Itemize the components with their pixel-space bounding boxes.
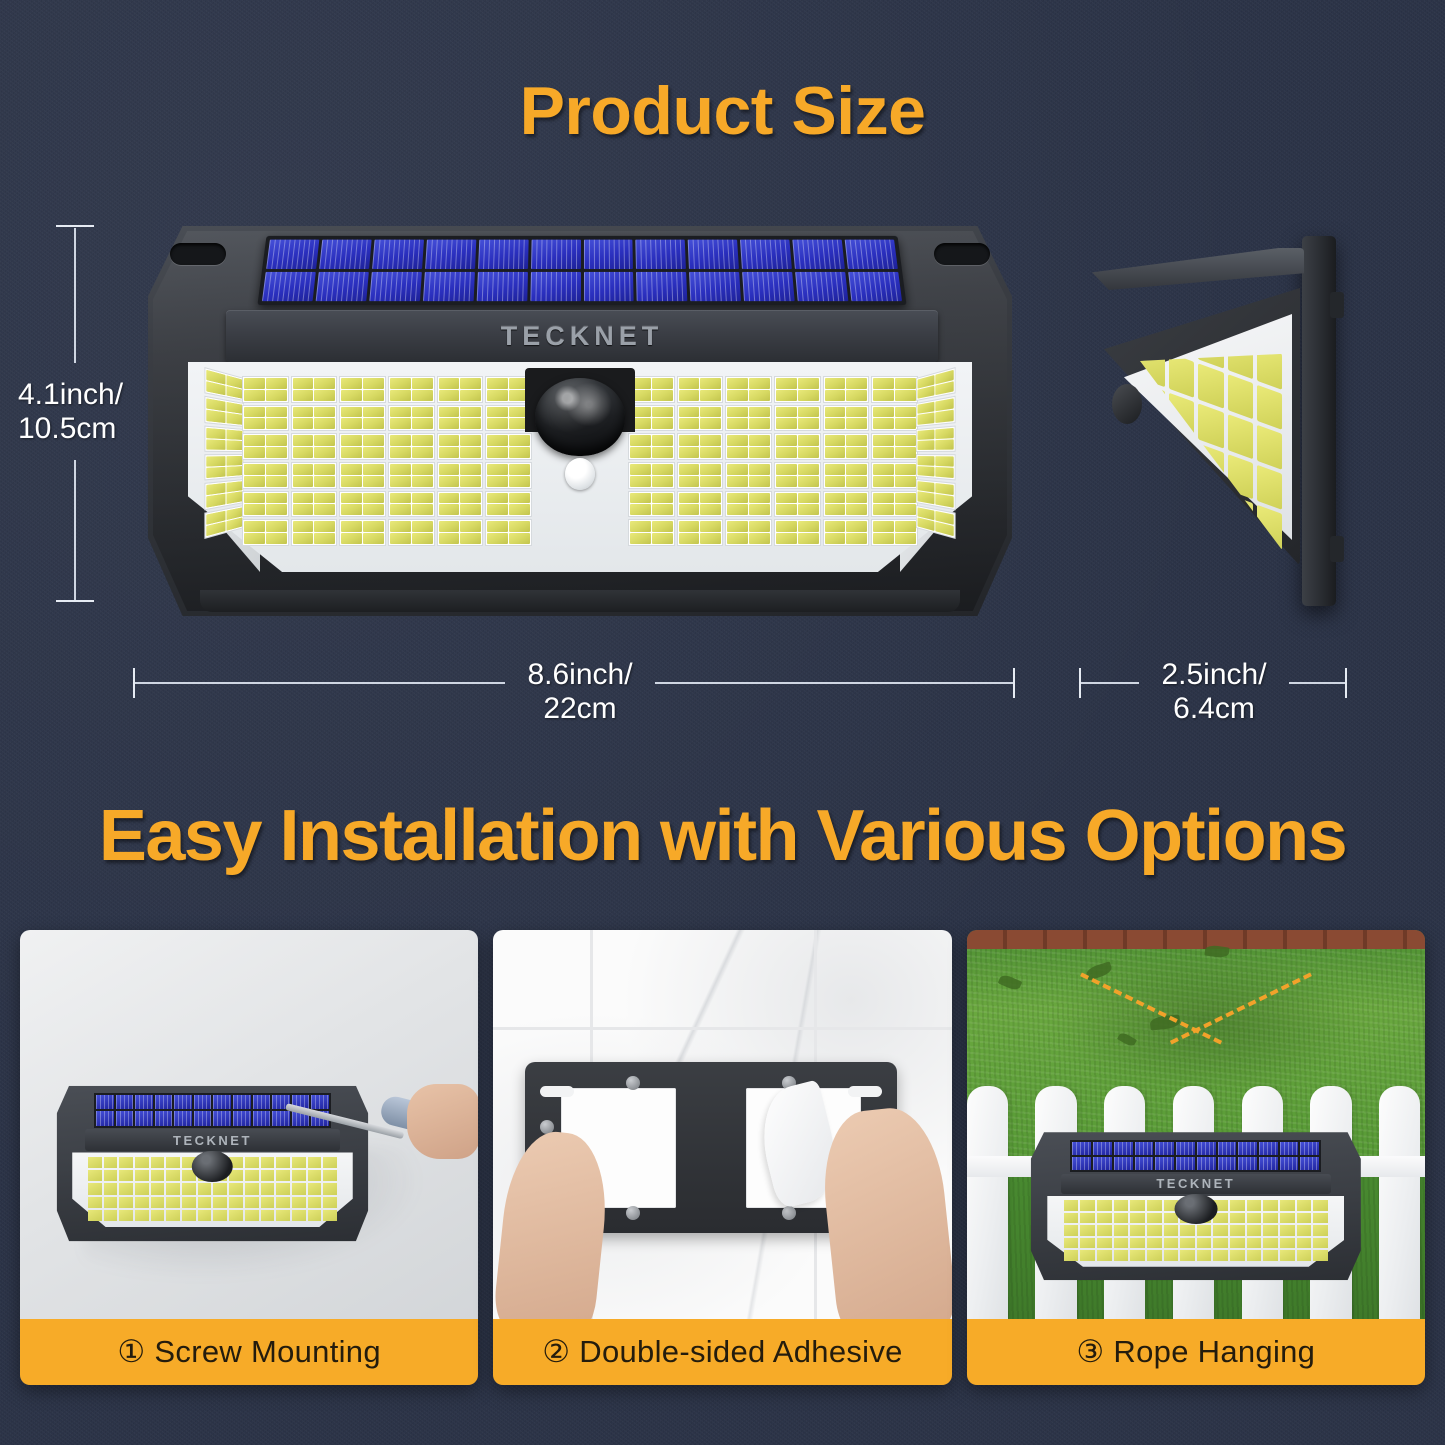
- mini-led-chip: [308, 1170, 322, 1181]
- led-chip: [439, 504, 460, 515]
- led-chip: [652, 435, 673, 446]
- led-chip: [439, 435, 460, 446]
- led-chip: [439, 447, 460, 458]
- mini-solar-cell: [1259, 1142, 1278, 1155]
- led-cluster: [339, 405, 386, 432]
- led-chip: [293, 378, 314, 389]
- led-chip: [679, 464, 700, 475]
- mini-led-chip: [1280, 1250, 1295, 1261]
- mini-led-chip: [151, 1210, 165, 1221]
- led-chip: [460, 533, 481, 544]
- mini-led-chip: [1213, 1225, 1228, 1236]
- mini-led-chip: [229, 1197, 243, 1208]
- solar-cell: [689, 271, 741, 301]
- mini-led-chip: [1147, 1213, 1162, 1224]
- led-cluster: [725, 519, 772, 546]
- led-chip: [341, 533, 362, 544]
- led-chip: [460, 378, 481, 389]
- led-chip: [776, 464, 797, 475]
- led-cluster: [339, 519, 386, 546]
- led-chip: [266, 447, 287, 458]
- led-chip: [935, 467, 954, 478]
- led-cluster: [774, 519, 821, 546]
- led-cluster: [339, 462, 386, 489]
- led-chip: [873, 435, 894, 446]
- led-chip: [390, 418, 411, 429]
- mini-solar-cell: [96, 1111, 114, 1125]
- led-chip: [700, 521, 721, 532]
- led-chip: [727, 407, 748, 418]
- led-chip: [412, 521, 433, 532]
- led-chip: [487, 418, 508, 429]
- led-chip: [341, 476, 362, 487]
- led-chip: [749, 504, 770, 515]
- mini-led-chip: [229, 1210, 243, 1221]
- mini-led-chip: [1247, 1200, 1262, 1211]
- led-chip: [776, 447, 797, 458]
- led-chip: [412, 378, 433, 389]
- led-cluster: [823, 376, 870, 403]
- install-caption-2: ② Double-sided Adhesive: [493, 1319, 951, 1385]
- led-cluster: [725, 491, 772, 518]
- hand-holding-screwdriver: [407, 1084, 479, 1159]
- led-cluster: [871, 519, 918, 546]
- led-cluster: [823, 519, 870, 546]
- mini-led-chip: [1230, 1238, 1245, 1249]
- mini-solar-cell: [1280, 1142, 1299, 1155]
- mini-led-chip: [198, 1183, 212, 1194]
- led-chip: [679, 533, 700, 544]
- led-chip: [341, 493, 362, 504]
- mini-led-chip: [1064, 1238, 1079, 1249]
- install-photo-screw-mounting: TECKNET: [20, 930, 478, 1319]
- mini-solar-cell: [233, 1095, 251, 1109]
- side-tab-top: [1330, 292, 1344, 318]
- mini-led-chip: [323, 1210, 337, 1221]
- led-chip: [873, 493, 894, 504]
- led-chip: [825, 493, 846, 504]
- mini-led-chip: [1297, 1225, 1312, 1236]
- led-cluster: [388, 462, 435, 489]
- led-chip: [727, 504, 748, 515]
- led-chip: [390, 435, 411, 446]
- side-led-chip: [1198, 483, 1223, 528]
- mini-solar-cell: [174, 1095, 192, 1109]
- led-cluster: [242, 433, 289, 460]
- mini-led-chip: [323, 1183, 337, 1194]
- led-chip: [390, 407, 411, 418]
- led-chip: [341, 435, 362, 446]
- led-chip: [825, 390, 846, 401]
- led-chip: [749, 390, 770, 401]
- led-chip: [293, 493, 314, 504]
- dimension-height-label: 4.1inch/ 10.5cm: [18, 378, 123, 445]
- mini-led-chip: [1230, 1213, 1245, 1224]
- led-chip: [226, 440, 243, 450]
- install-photo-adhesive: [493, 930, 951, 1319]
- mini-led-chip: [1130, 1225, 1145, 1236]
- led-chip: [749, 435, 770, 446]
- led-chip: [390, 493, 411, 504]
- led-chip: [439, 493, 460, 504]
- led-chip: [798, 533, 819, 544]
- led-chip: [895, 493, 916, 504]
- mini-led-chip: [245, 1210, 259, 1221]
- led-chip: [798, 447, 819, 458]
- side-solar-arm: [1092, 248, 1304, 290]
- mini-led-chip: [119, 1170, 133, 1181]
- led-cluster: [204, 396, 244, 427]
- led-chip: [487, 521, 508, 532]
- led-chip: [266, 504, 287, 515]
- mini-led-chip: [292, 1183, 306, 1194]
- led-chip: [935, 456, 954, 467]
- mini-led-chip: [1064, 1213, 1079, 1224]
- led-chip: [873, 418, 894, 429]
- mini-solar-cell: [1114, 1142, 1133, 1155]
- mini-brand-bar: TECKNET: [1061, 1174, 1332, 1195]
- led-cluster: [677, 462, 724, 489]
- led-cluster: [291, 462, 338, 489]
- mini-led-chip: [1230, 1225, 1245, 1236]
- led-chip: [727, 464, 748, 475]
- mini-led-chip: [1097, 1225, 1112, 1236]
- led-chip: [846, 521, 867, 532]
- led-chip: [293, 476, 314, 487]
- mini-led-chip: [213, 1210, 227, 1221]
- mini-led-chip: [1247, 1225, 1262, 1236]
- mounting-hole-right: [934, 243, 990, 265]
- led-cluster: [628, 462, 675, 489]
- dim-line-width-right: [655, 682, 1013, 684]
- solar-cell: [530, 271, 581, 301]
- led-chip: [630, 533, 651, 544]
- mini-solar-cell: [1218, 1142, 1237, 1155]
- mini-led-chip: [135, 1170, 149, 1181]
- mini-led-chip: [1064, 1225, 1079, 1236]
- mini-led-chip: [245, 1197, 259, 1208]
- led-chip: [652, 447, 673, 458]
- product-side-view: [1086, 236, 1336, 606]
- led-chip: [363, 378, 384, 389]
- led-chip: [935, 410, 954, 422]
- led-chip: [895, 390, 916, 401]
- mini-led-chip: [1097, 1238, 1112, 1249]
- led-chip: [293, 447, 314, 458]
- mini-solar-cell: [1238, 1157, 1257, 1170]
- led-chip: [895, 464, 916, 475]
- led-array-left-wing: [204, 367, 244, 539]
- bracket-slot-left: [540, 1086, 574, 1097]
- led-cluster: [823, 491, 870, 518]
- led-cluster: [871, 433, 918, 460]
- led-chip: [776, 521, 797, 532]
- led-chip: [825, 378, 846, 389]
- mini-solar-cell: [1300, 1142, 1319, 1155]
- mini-led-chip: [1080, 1213, 1095, 1224]
- mini-led-chip: [1313, 1238, 1328, 1249]
- led-chip: [630, 464, 651, 475]
- mini-led-chip: [292, 1197, 306, 1208]
- mini-led-chip: [261, 1170, 275, 1181]
- led-chip: [341, 447, 362, 458]
- led-chip: [363, 418, 384, 429]
- side-led-chip: [1140, 462, 1165, 507]
- led-chip: [679, 407, 700, 418]
- led-chip: [487, 504, 508, 515]
- led-chip: [266, 493, 287, 504]
- led-chip: [846, 476, 867, 487]
- mini-led-chip: [1097, 1250, 1112, 1261]
- mini-led-chip: [1280, 1200, 1295, 1211]
- led-chip: [727, 418, 748, 429]
- mini-led-chip: [308, 1197, 322, 1208]
- led-chip: [314, 378, 335, 389]
- led-chip: [700, 418, 721, 429]
- mini-led-chip: [1114, 1225, 1129, 1236]
- led-chip: [798, 418, 819, 429]
- mini-solar-cell: [213, 1111, 231, 1125]
- led-cluster: [823, 405, 870, 432]
- led-chip: [341, 418, 362, 429]
- led-chip: [266, 407, 287, 418]
- mini-led-chip: [245, 1157, 259, 1168]
- mini-led-chip: [151, 1197, 165, 1208]
- led-chip: [390, 476, 411, 487]
- led-chip: [935, 439, 954, 450]
- led-chip: [244, 521, 265, 532]
- led-chip: [652, 407, 673, 418]
- install-option-double-sided-adhesive[interactable]: ② Double-sided Adhesive: [493, 930, 951, 1385]
- sensor-dome: [535, 378, 625, 456]
- led-chip: [266, 521, 287, 532]
- led-chip: [776, 504, 797, 515]
- solar-cell: [848, 271, 902, 301]
- led-chip: [846, 464, 867, 475]
- mini-led-chip: [276, 1183, 290, 1194]
- led-chip: [390, 390, 411, 401]
- led-chip: [314, 476, 335, 487]
- install-caption-1: ① Screw Mounting: [20, 1319, 478, 1385]
- led-cluster: [677, 376, 724, 403]
- led-cluster: [871, 376, 918, 403]
- mini-led-chip: [1080, 1238, 1095, 1249]
- dim-cap-bottom: [56, 600, 94, 602]
- led-chip: [652, 521, 673, 532]
- led-chip: [846, 435, 867, 446]
- led-chip: [935, 428, 954, 439]
- install-option-rope-hanging[interactable]: TECKNET ③ Rope Hanging: [967, 930, 1425, 1385]
- mini-led-chip: [276, 1170, 290, 1181]
- led-chip: [439, 407, 460, 418]
- led-chip: [798, 390, 819, 401]
- mini-led-chip: [1064, 1200, 1079, 1211]
- led-chip: [509, 504, 530, 515]
- side-led-chip: [1228, 494, 1253, 539]
- led-chip: [652, 378, 673, 389]
- mini-solar-cell: [1155, 1142, 1174, 1155]
- mini-led-chip: [151, 1170, 165, 1181]
- led-chip: [700, 476, 721, 487]
- mini-led-chip: [1263, 1200, 1278, 1211]
- mini-solar-cell: [1197, 1157, 1216, 1170]
- led-chip: [363, 521, 384, 532]
- mini-led-chip: [1180, 1225, 1195, 1236]
- led-chip: [873, 390, 894, 401]
- mini-solar-cell: [194, 1111, 212, 1125]
- led-chip: [846, 390, 867, 401]
- led-cluster: [437, 519, 484, 546]
- led-chip: [439, 418, 460, 429]
- led-chip: [390, 464, 411, 475]
- solar-cell: [845, 240, 898, 269]
- mini-led-chip: [261, 1210, 275, 1221]
- led-cluster: [871, 462, 918, 489]
- led-chip: [439, 521, 460, 532]
- led-chip: [206, 428, 225, 439]
- led-chip: [341, 504, 362, 515]
- led-chip: [363, 504, 384, 515]
- led-chip: [798, 521, 819, 532]
- mini-led-chip: [1130, 1213, 1145, 1224]
- led-cluster: [242, 376, 289, 403]
- led-chip: [895, 418, 916, 429]
- led-chip: [776, 378, 797, 389]
- solar-cell: [583, 240, 633, 269]
- led-chip: [895, 504, 916, 515]
- side-led-chip: [1198, 403, 1223, 448]
- led-chip: [630, 476, 651, 487]
- led-chip: [509, 533, 530, 544]
- mini-led-chip: [323, 1170, 337, 1181]
- mini-led-chip: [88, 1157, 102, 1168]
- mini-led-chip: [1263, 1225, 1278, 1236]
- install-option-screw-mounting[interactable]: TECKNET ① Screw Mounting: [20, 930, 478, 1385]
- mini-led-chip: [1097, 1200, 1112, 1211]
- mini-solar-cell: [1072, 1157, 1091, 1170]
- led-chip: [487, 447, 508, 458]
- led-chip: [206, 410, 225, 422]
- led-chip: [390, 447, 411, 458]
- led-cluster: [677, 519, 724, 546]
- mini-solar-cell: [1114, 1157, 1133, 1170]
- led-chip: [700, 464, 721, 475]
- led-chip: [895, 476, 916, 487]
- mini-led-chip: [213, 1183, 227, 1194]
- led-chip: [314, 407, 335, 418]
- mini-led-chip: [198, 1197, 212, 1208]
- led-cluster: [628, 491, 675, 518]
- led-chip: [652, 390, 673, 401]
- led-cluster: [437, 405, 484, 432]
- mini-led-chip: [308, 1157, 322, 1168]
- led-cluster: [823, 462, 870, 489]
- led-chip: [460, 476, 481, 487]
- led-chip: [846, 533, 867, 544]
- mini-led-chip: [1114, 1250, 1129, 1261]
- mini-solar-cell: [194, 1095, 212, 1109]
- led-cluster: [242, 405, 289, 432]
- mini-led-chip: [104, 1170, 118, 1181]
- bracket-screw-3: [626, 1076, 640, 1090]
- led-chip: [679, 476, 700, 487]
- led-cluster: [437, 491, 484, 518]
- led-cluster: [677, 433, 724, 460]
- mini-led-chip: [245, 1170, 259, 1181]
- mini-led-chip: [151, 1183, 165, 1194]
- mini-led-chip: [1280, 1225, 1295, 1236]
- mini-led-chip: [1197, 1225, 1212, 1236]
- led-cluster: [916, 396, 956, 427]
- solar-cell: [740, 240, 792, 269]
- mini-led-chip: [182, 1210, 196, 1221]
- mini-led-chip: [1247, 1238, 1262, 1249]
- led-chip: [509, 521, 530, 532]
- led-chip: [727, 493, 748, 504]
- led-chip: [412, 504, 433, 515]
- led-chip: [266, 476, 287, 487]
- led-chip: [363, 493, 384, 504]
- led-chip: [776, 476, 797, 487]
- led-cluster: [204, 425, 244, 452]
- led-chip: [825, 447, 846, 458]
- dim-cap-top: [56, 225, 94, 227]
- led-cluster: [725, 405, 772, 432]
- led-chip: [873, 521, 894, 532]
- mini-solar-cell: [1135, 1157, 1154, 1170]
- led-cluster: [388, 433, 435, 460]
- mini-led-chip: [1147, 1250, 1162, 1261]
- led-chip: [679, 493, 700, 504]
- tile-grout-horizontal: [493, 1027, 951, 1030]
- install-caption-3: ③ Rope Hanging: [967, 1319, 1425, 1385]
- led-chip: [412, 533, 433, 544]
- dim-cap-depth-right: [1345, 668, 1347, 698]
- led-cluster: [291, 519, 338, 546]
- mini-led-chip: [1164, 1238, 1179, 1249]
- led-chip: [244, 504, 265, 515]
- mini-led-chip: [166, 1197, 180, 1208]
- bracket-screw-4: [626, 1206, 640, 1220]
- mini-led-chip: [119, 1210, 133, 1221]
- led-chip: [244, 435, 265, 446]
- led-chip: [439, 390, 460, 401]
- led-chip: [700, 378, 721, 389]
- led-chip: [266, 464, 287, 475]
- led-chip: [460, 390, 481, 401]
- mini-led-chip: [1313, 1200, 1328, 1211]
- led-chip: [895, 435, 916, 446]
- led-chip: [846, 407, 867, 418]
- led-chip: [630, 493, 651, 504]
- dimension-depth-label: 2.5inch/ 6.4cm: [1139, 658, 1289, 725]
- mini-led-chip: [1080, 1200, 1095, 1211]
- installation-options-row: TECKNET ① Screw Mounting: [20, 930, 1425, 1385]
- mini-led-chip: [1147, 1200, 1162, 1211]
- mini-led-chip: [1263, 1250, 1278, 1261]
- mini-solar-panel: [1070, 1140, 1321, 1173]
- led-cluster: [339, 433, 386, 460]
- led-chip: [895, 378, 916, 389]
- led-chip: [679, 435, 700, 446]
- led-chip: [439, 476, 460, 487]
- bracket-slot-right: [848, 1086, 882, 1097]
- led-cluster: [871, 405, 918, 432]
- led-chip: [825, 435, 846, 446]
- led-chip: [825, 464, 846, 475]
- led-chip: [846, 504, 867, 515]
- solar-cell: [531, 240, 581, 269]
